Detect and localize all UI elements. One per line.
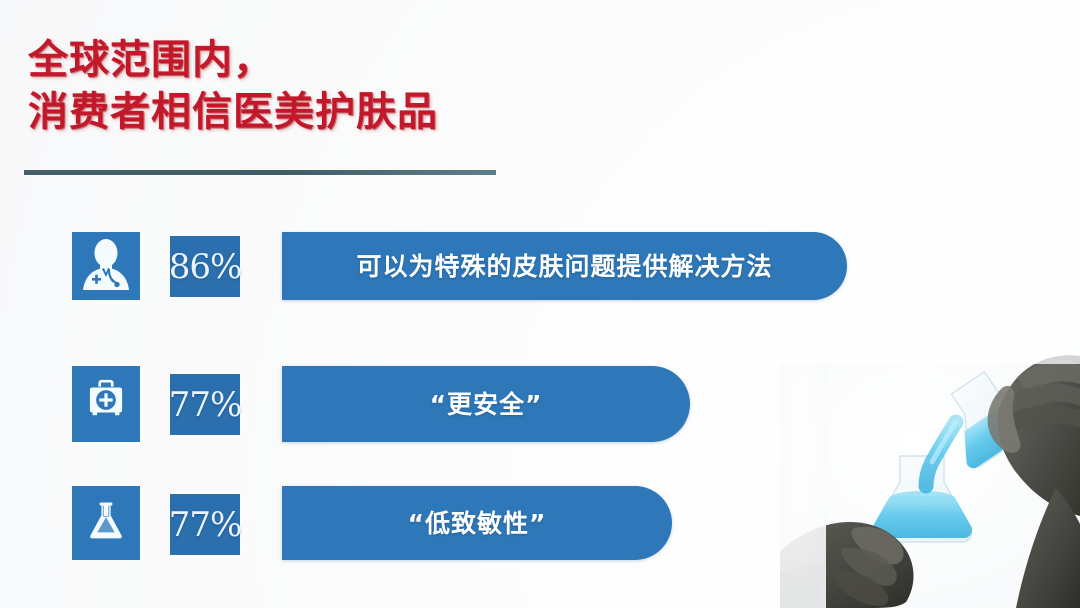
medical-kit-icon (72, 366, 140, 442)
stat-label: 可以为特殊的皮肤问题提供解决方法 (330, 254, 798, 279)
page-title: 全球范围内， 消费者相信医美护肤品 (28, 34, 548, 138)
title-divider (24, 170, 496, 175)
stat-bar: “低致敏性” (282, 486, 672, 560)
percent-badge: 77% (170, 374, 240, 435)
percent-badge: 86% (170, 236, 240, 297)
percent-badge: 77% (170, 494, 240, 555)
stat-label: “低致敏性” (382, 511, 573, 536)
stat-bar: 可以为特殊的皮肤问题提供解决方法 (282, 232, 847, 300)
percent-value: 86% (169, 250, 242, 284)
percent-value: 77% (169, 388, 242, 422)
gloved-hands-pouring-blue-liquid-photo (780, 338, 1080, 608)
slide-canvas: 全球范围内， 消费者相信医美护肤品 (0, 0, 1080, 608)
title-line-2: 消费者相信医美护肤品 (28, 86, 548, 138)
flask-icon (72, 486, 140, 560)
stat-bar: “更安全” (282, 366, 690, 442)
doctor-icon (72, 232, 140, 300)
title-line-1: 全球范围内， (28, 34, 548, 86)
stat-label: “更安全” (404, 392, 569, 417)
percent-value: 77% (169, 508, 242, 542)
